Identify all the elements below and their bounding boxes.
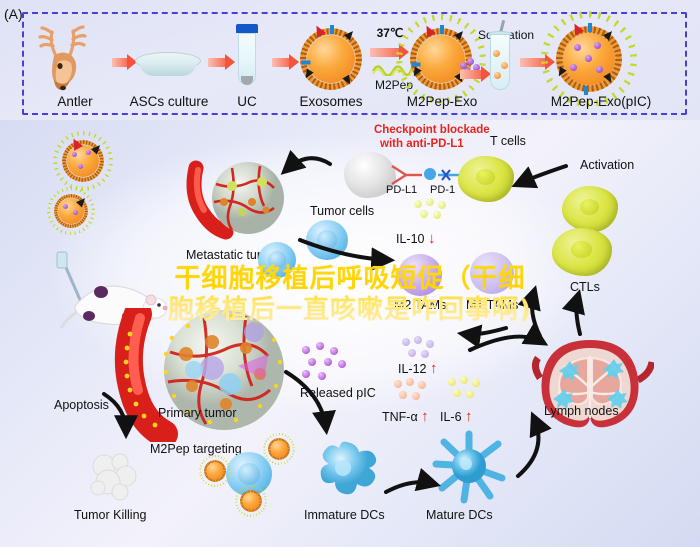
tnf-alpha-label: TNF-α ↑ bbox=[382, 408, 429, 425]
panel-a-step-label-ascs: ASCs culture bbox=[128, 94, 210, 109]
lymph-nodes-label: Lymph nodes bbox=[544, 404, 619, 418]
il-10-down-arrow: ↓ bbox=[428, 230, 436, 247]
tnf-alpha-cytokine-dots bbox=[394, 378, 436, 406]
apoptosis-label: Apoptosis bbox=[54, 398, 109, 412]
ctl-illustration bbox=[562, 186, 618, 232]
centrifuge-tube-icon bbox=[236, 24, 258, 94]
metastatic-tumor-illustration bbox=[186, 150, 294, 246]
mature-dc-illustration bbox=[428, 426, 510, 508]
exosome-icon bbox=[204, 460, 226, 482]
tumor-cells-label: Tumor cells bbox=[310, 204, 374, 218]
immature-dcs-label: Immature DCs bbox=[304, 508, 385, 522]
checkpoint-blockade-label-line1: Checkpoint blockade bbox=[374, 124, 490, 137]
deer-icon bbox=[36, 22, 110, 94]
immature-dc-illustration bbox=[310, 432, 384, 506]
panel-a-step-label-m2pep-exo-pic: M2Pep-Exo(pIC) bbox=[536, 94, 666, 109]
exosome-icon bbox=[300, 28, 362, 90]
tnf-alpha-up-arrow: ↑ bbox=[421, 408, 429, 425]
figure-root: (A) Antler bbox=[0, 0, 700, 547]
watermark-line-1: 干细胞移植后呼吸短促（干细 bbox=[0, 264, 700, 295]
panel-a-step-label-antler: Antler bbox=[40, 94, 110, 109]
tumor-killing-label: Tumor Killing bbox=[74, 508, 146, 522]
exosome-icon bbox=[268, 438, 290, 460]
il-10-label: IL-10 ↓ bbox=[396, 230, 435, 247]
panel-a-step-label-uc: UC bbox=[225, 94, 269, 109]
checkpoint-blockade-label-line2: with anti-PD-L1 bbox=[380, 138, 464, 151]
m2pep-targeting-label: M2Pep targeting bbox=[150, 442, 242, 456]
pd-l1-label: PD-L1 bbox=[386, 184, 417, 196]
panel-b: Metastatic tumor Tumor cells Checkpoint … bbox=[0, 120, 700, 547]
monocyte-illustration bbox=[306, 220, 348, 260]
t-cell-illustration bbox=[458, 156, 514, 202]
il-6-label: IL-6 ↑ bbox=[440, 408, 473, 425]
watermark-line-2: 胞移植后一直咳嗽是咋回事啊) bbox=[0, 295, 700, 326]
il-6-text: IL-6 bbox=[440, 410, 462, 424]
mature-dcs-label: Mature DCs bbox=[426, 508, 493, 522]
il-12-text: IL-12 bbox=[398, 362, 427, 376]
tnf-alpha-text: TNF-α bbox=[382, 410, 418, 424]
panel-a-step-label-exosomes: Exosomes bbox=[292, 94, 370, 109]
released-pic-dots bbox=[302, 342, 356, 384]
arrow-m2pep-exo-to-sonication bbox=[460, 70, 482, 79]
t-cells-label: T cells bbox=[490, 134, 526, 148]
exosome-icon bbox=[54, 194, 88, 228]
pd-1-label: PD-1 bbox=[430, 184, 455, 196]
il-6-up-arrow: ↑ bbox=[465, 408, 473, 425]
il-6-cytokine-dots bbox=[448, 376, 490, 404]
petri-dish-icon bbox=[135, 52, 201, 78]
apoptotic-cell-illustration bbox=[86, 450, 142, 502]
primary-tumor-label: Primary tumor bbox=[158, 406, 236, 420]
il-12-up-arrow: ↑ bbox=[430, 360, 438, 377]
released-pic-label: Released pIC bbox=[300, 386, 376, 400]
exosome-loaded-pic-icon bbox=[556, 26, 622, 92]
activation-label: Activation bbox=[580, 158, 634, 172]
il-12-label: IL-12 ↑ bbox=[398, 360, 437, 377]
exosome-icon bbox=[240, 490, 262, 512]
watermark-text: 干细胞移植后呼吸短促（干细 胞移植后一直咳嗽是咋回事啊) bbox=[0, 264, 700, 326]
arrow-antler-to-culture bbox=[112, 58, 128, 67]
panel-a: (A) Antler bbox=[0, 0, 700, 120]
arrow-culture-to-uc bbox=[208, 58, 226, 67]
arrow-uc-to-exosomes bbox=[272, 58, 290, 67]
primary-tumor-illustration bbox=[108, 308, 304, 442]
sonication-tube-icon bbox=[488, 20, 512, 96]
il-10-cytokine-dots bbox=[414, 198, 458, 226]
panel-a-step-label-m2pep-exo: M2Pep-Exo bbox=[404, 94, 480, 109]
il-10-text: IL-10 bbox=[396, 232, 425, 246]
exosome-icon bbox=[62, 140, 104, 182]
panel-a-tag: (A) bbox=[4, 6, 23, 22]
